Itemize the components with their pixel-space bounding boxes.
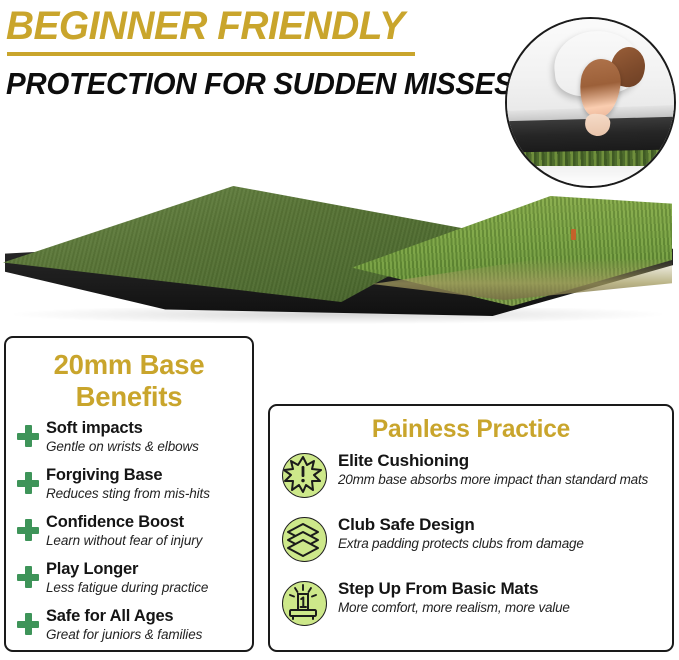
practice-heading: Club Safe Design xyxy=(338,515,475,534)
stacked-layers-icon xyxy=(282,517,327,562)
benefit-heading: Confidence Boost xyxy=(46,513,184,531)
benefit-heading: Safe for All Ages xyxy=(46,607,173,625)
benefit-heading: Forgiving Base xyxy=(46,466,162,484)
benefit-text: Play Longer Less fatigue during practice xyxy=(46,560,246,597)
practice-text: Club Safe Design Extra padding protects … xyxy=(338,515,664,553)
plus-icon xyxy=(16,471,40,495)
benefit-text: Soft impacts Gentle on wrists & elbows xyxy=(46,419,246,456)
benefits-list: Soft impacts Gentle on wrists & elbows F… xyxy=(6,419,252,644)
podium-number-one-icon xyxy=(282,581,327,626)
benefit-item: Soft impacts Gentle on wrists & elbows xyxy=(14,419,246,456)
benefit-item: Safe for All Ages Great for juniors & fa… xyxy=(14,607,246,644)
plus-icon xyxy=(16,565,40,589)
benefit-text: Confidence Boost Learn without fear of i… xyxy=(46,513,246,550)
benefit-heading: Play Longer xyxy=(46,560,138,578)
benefits-panel: 20mm Base Benefits Soft impacts Gentle o… xyxy=(4,336,254,652)
page-subheadline: PROTECTION FOR SUDDEN MISSES xyxy=(6,67,453,101)
benefit-item: Confidence Boost Learn without fear of i… xyxy=(14,513,246,550)
practice-subtext: 20mm base absorbs more impact than stand… xyxy=(338,472,648,487)
benefits-panel-title: 20mm Base Benefits xyxy=(8,349,249,413)
practice-subtext: More comfort, more realism, more value xyxy=(338,600,570,615)
practice-subtext: Extra padding protects clubs from damage xyxy=(338,536,584,551)
plus-icon xyxy=(16,424,40,448)
practice-heading: Step Up From Basic Mats xyxy=(338,579,538,598)
benefit-subtext: Less fatigue during practice xyxy=(46,580,208,595)
practice-text: Step Up From Basic Mats More comfort, mo… xyxy=(338,579,664,617)
benefit-text: Safe for All Ages Great for juniors & fa… xyxy=(46,607,246,644)
mat-golf-tee xyxy=(571,229,576,240)
benefit-subtext: Great for juniors & families xyxy=(46,627,202,642)
header-block: BEGINNER FRIENDLY PROTECTION FOR SUDDEN … xyxy=(6,4,476,101)
benefit-subtext: Gentle on wrists & elbows xyxy=(46,439,199,454)
benefit-subtext: Learn without fear of injury xyxy=(46,533,202,548)
plus-icon xyxy=(16,518,40,542)
plus-icon xyxy=(16,612,40,636)
benefit-item: Forgiving Base Reduces sting from mis-hi… xyxy=(14,466,246,503)
benefit-subtext: Reduces sting from mis-hits xyxy=(46,486,210,501)
practice-list: Elite Cushioning 20mm base absorbs more … xyxy=(270,451,672,626)
benefit-item: Play Longer Less fatigue during practice xyxy=(14,560,246,597)
impact-burst-icon xyxy=(282,453,327,498)
inset-hand-press-photo xyxy=(505,17,676,188)
page-headline: BEGINNER FRIENDLY xyxy=(6,4,462,48)
practice-text: Elite Cushioning 20mm base absorbs more … xyxy=(338,451,664,489)
practice-heading: Elite Cushioning xyxy=(338,451,469,470)
practice-item: Club Safe Design Extra padding protects … xyxy=(280,515,664,562)
practice-panel-title: Painless Practice xyxy=(274,415,668,444)
product-mat-photo xyxy=(0,172,679,350)
practice-item: Step Up From Basic Mats More comfort, mo… xyxy=(280,579,664,626)
headline-underline-rule xyxy=(7,52,415,56)
benefit-heading: Soft impacts xyxy=(46,419,143,437)
practice-panel: Painless Practice Elite Cushioning 20mm … xyxy=(268,404,674,652)
practice-item: Elite Cushioning 20mm base absorbs more … xyxy=(280,451,664,498)
benefit-text: Forgiving Base Reduces sting from mis-hi… xyxy=(46,466,246,503)
